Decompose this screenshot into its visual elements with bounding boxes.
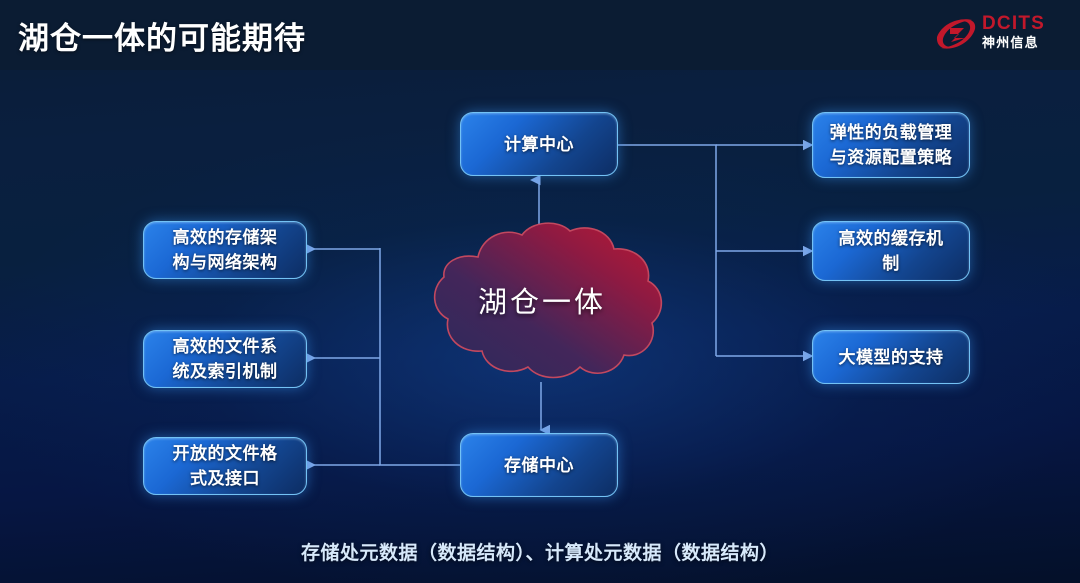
cloud-label: 湖仓一体 — [408, 215, 676, 385]
node-compute-center-label: 计算中心 — [504, 132, 574, 157]
node-llm-support-label: 大模型的支持 — [839, 345, 944, 370]
slide-canvas: 湖仓一体的可能期待 DCITS 神州信息 — [0, 0, 1080, 583]
node-open-file-format-api[interactable]: 开放的文件格 式及接口 — [143, 437, 307, 495]
node-file-system-index-line1: 高效的文件系 — [173, 334, 278, 359]
node-storage-network-arch[interactable]: 高效的存储架 构与网络架构 — [143, 221, 307, 279]
lakehouse-cloud[interactable]: 湖仓一体 — [408, 215, 676, 385]
node-file-system-index[interactable]: 高效的文件系 统及索引机制 — [143, 330, 307, 388]
node-efficient-cache-line1: 高效的缓存机 — [839, 226, 944, 251]
node-storage-network-arch-line2: 构与网络架构 — [173, 250, 278, 275]
node-efficient-cache[interactable]: 高效的缓存机 制 — [812, 221, 970, 281]
node-storage-center-label: 存储中心 — [504, 453, 574, 478]
node-efficient-cache-line2: 制 — [839, 251, 944, 276]
node-elastic-workload-mgmt-line1: 弹性的负载管理 — [830, 120, 953, 145]
node-llm-support[interactable]: 大模型的支持 — [812, 330, 970, 384]
node-storage-network-arch-line1: 高效的存储架 — [173, 225, 278, 250]
node-elastic-workload-mgmt-line2: 与资源配置策略 — [830, 145, 953, 170]
node-open-file-format-api-line1: 开放的文件格 — [173, 441, 278, 466]
node-compute-center[interactable]: 计算中心 — [460, 112, 618, 176]
node-open-file-format-api-line2: 式及接口 — [173, 466, 278, 491]
node-elastic-workload-mgmt[interactable]: 弹性的负载管理 与资源配置策略 — [812, 112, 970, 178]
node-file-system-index-line2: 统及索引机制 — [173, 359, 278, 384]
node-storage-center[interactable]: 存储中心 — [460, 433, 618, 497]
